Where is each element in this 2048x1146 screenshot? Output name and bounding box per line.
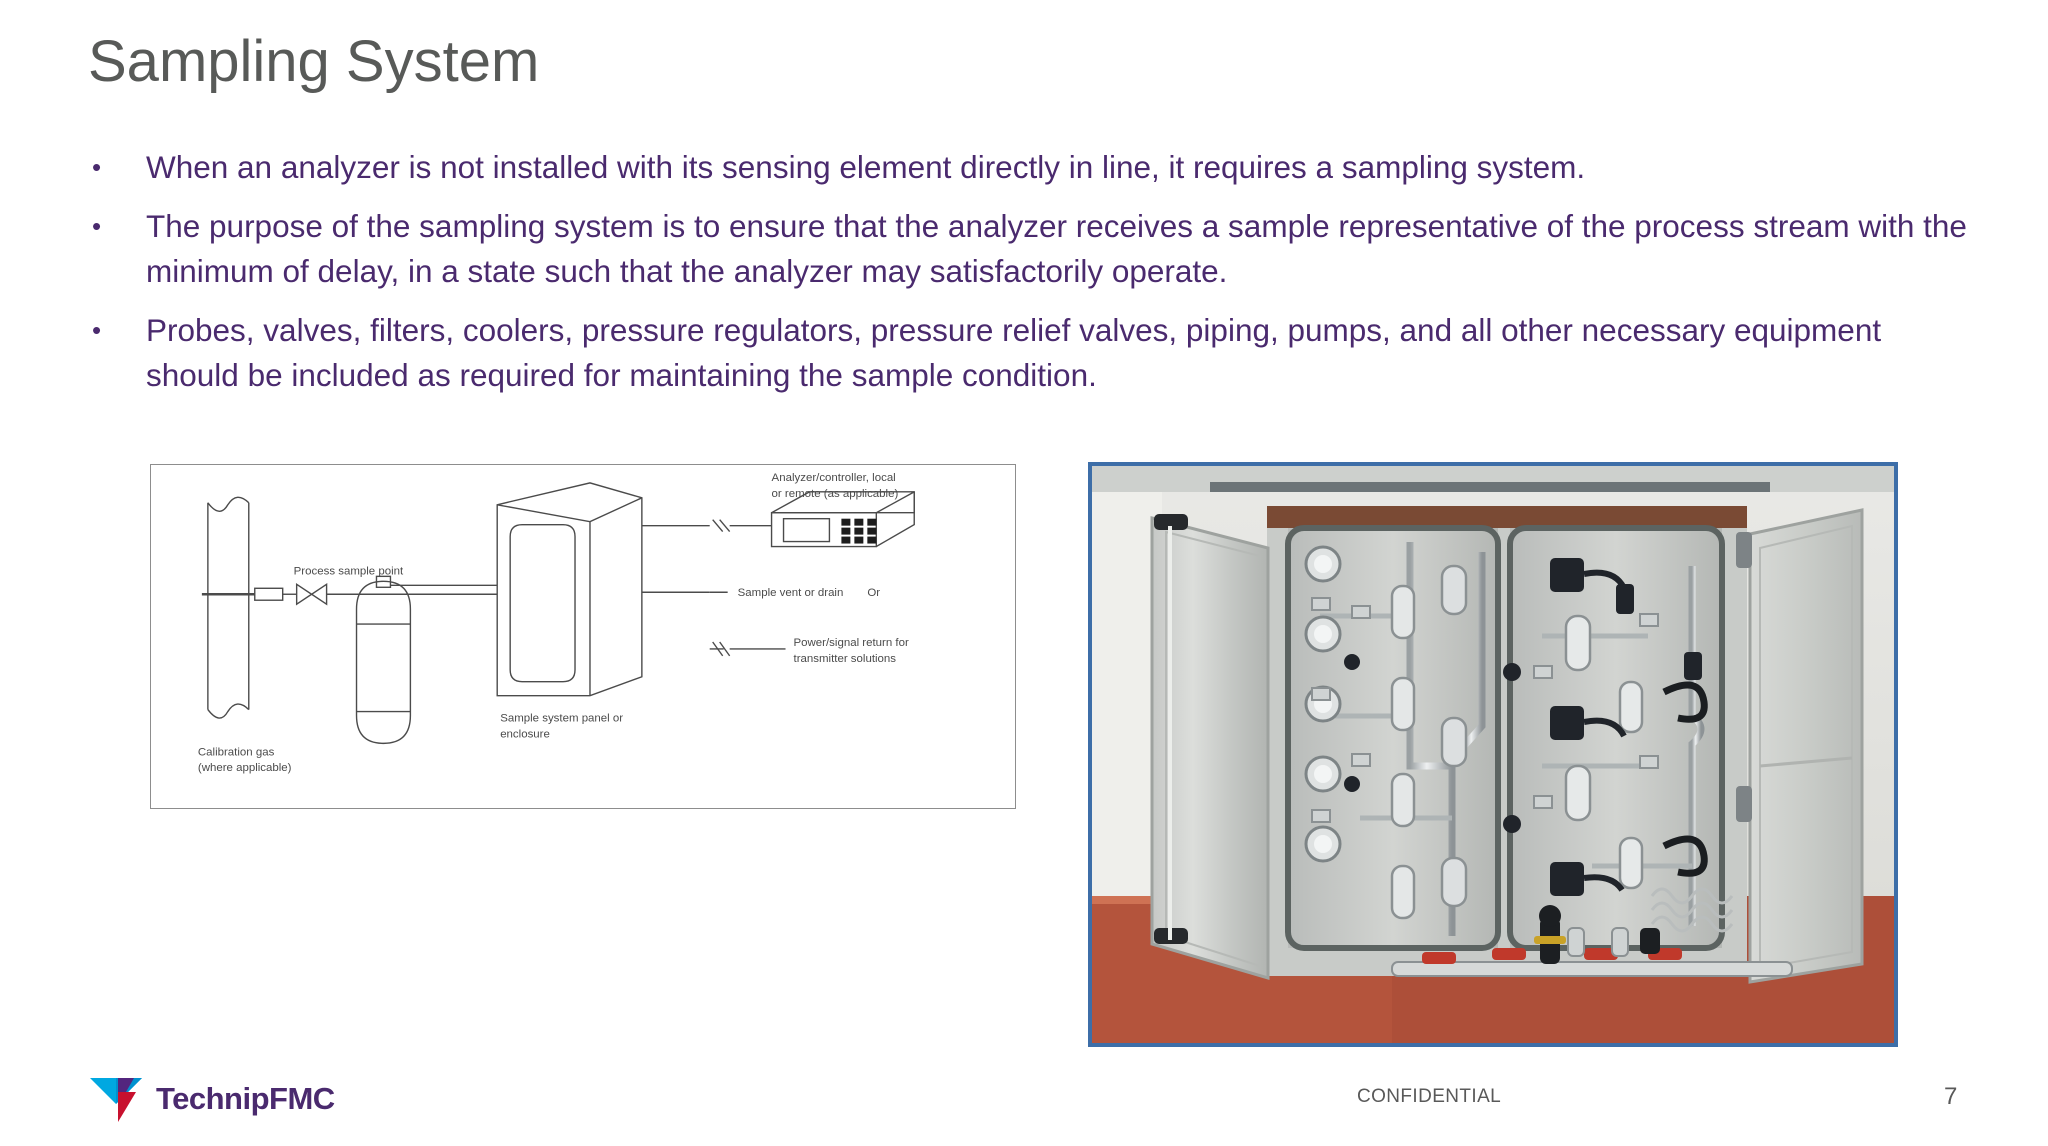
label-sample-vent: Sample vent or drain [738,587,844,599]
cabinet-right-door [1750,510,1862,982]
bullet-text: Probes, valves, filters, coolers, pressu… [146,308,1968,398]
analyzer-side-face [876,492,914,547]
bullet-dot-icon: • [88,308,146,353]
process-pipe-break-bottom [208,704,249,718]
bullet-text: The purpose of the sampling system is to… [146,204,1968,294]
bullet-list: • When an analyzer is not installed with… [88,145,1968,412]
label-analyzer-line2: or remote (as applicable) [772,488,899,500]
label-process-sample-point: Process sample point [294,565,404,577]
valve-right-triangle [312,584,327,604]
label-analyzer-line1: Analyzer/controller, local [772,472,896,484]
analyzer-keypad-icon [841,519,876,544]
analyzer-display-screen [784,519,830,542]
bullet-item: • The purpose of the sampling system is … [88,204,1968,294]
right-door-bottom-hinge [1736,786,1752,822]
panel-outline [497,483,642,696]
brand-wordmark: TechnipFMC [156,1083,335,1114]
label-sample-system-panel-line2: enclosure [500,728,550,740]
label-sample-system-panel-line1: Sample system panel or [500,713,623,725]
bullet-dot-icon: • [88,145,146,190]
photo-illustration [1092,466,1894,1043]
diagram-svg: Process sample point Calibration gas (wh… [151,465,1015,808]
panel-inner-rounded-face [510,525,575,682]
technipfmc-logo-icon [88,1072,144,1124]
bullet-text: When an analyzer is not installed with i… [146,145,1968,190]
process-pipe-break-top [208,497,249,511]
bullet-item: • When an analyzer is not installed with… [88,145,1968,190]
panel-top-edges [497,498,642,522]
brand-logo: TechnipFMC [88,1072,335,1124]
right-door-top-hinge [1736,532,1752,568]
logo-red-triangle [118,1092,136,1122]
process-tap-fitting [255,588,283,600]
label-power-signal-line1: Power/signal return for [794,637,909,649]
photo-ceiling-beam [1210,482,1770,492]
cabinet-top-rim [1267,506,1747,528]
label-power-signal-line2: transmitter solutions [794,653,897,665]
sampling-cabinet-photo [1088,462,1898,1047]
bullet-dot-icon: • [88,204,146,249]
calibration-gas-cylinder [357,581,411,743]
bullet-item: • Probes, valves, filters, coolers, pres… [88,308,1968,398]
bottom-manifold [1392,962,1792,976]
label-calibration-gas-line1: Calibration gas [198,746,275,758]
sampling-system-diagram: Process sample point Calibration gas (wh… [150,464,1016,809]
confidential-label: CONFIDENTIAL [1357,1086,1501,1108]
label-or: Or [867,587,880,599]
page-title: Sampling System [88,30,539,94]
page-number: 7 [1944,1083,1957,1111]
valve-left-triangle [297,584,312,604]
label-calibration-gas-line2: (where applicable) [198,762,292,774]
